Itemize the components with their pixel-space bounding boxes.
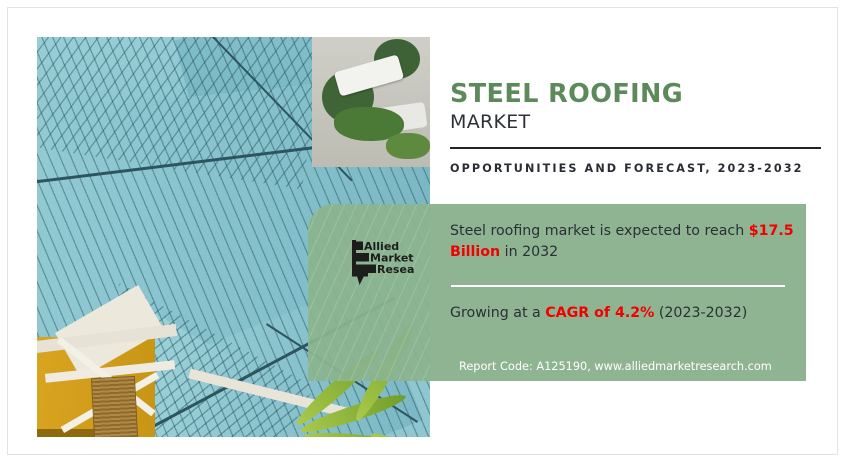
report-card: Allied Market Research STEEL ROOFING MAR… (7, 7, 838, 455)
shrub-2 (386, 133, 430, 159)
primary-stat-trail: in 2032 (505, 244, 559, 260)
secondary-stat-lead: Growing at a (450, 305, 541, 321)
report-subtitle: MARKET (450, 113, 530, 132)
primary-statistic: Steel roofing market is expected to reac… (450, 221, 795, 262)
secondary-stat-trail: (2023-2032) (659, 305, 747, 321)
secondary-stat-value: CAGR of 4.2% (545, 305, 654, 321)
stat-divider (451, 285, 785, 287)
report-title: STEEL ROOFING (450, 82, 683, 108)
window-shutter (91, 376, 139, 437)
report-code-footer: Report Code: A125190, www.alliedmarketre… (459, 360, 772, 373)
report-kicker: OPPORTUNITIES AND FORECAST, 2023-2032 (450, 160, 830, 177)
allied-market-research-logo: Allied Market Research (352, 238, 414, 290)
title-divider (450, 147, 821, 149)
svg-text:Research: Research (377, 263, 414, 276)
secondary-statistic: Growing at a CAGR of 4.2% (2023-2032) (450, 303, 760, 324)
primary-stat-lead: Steel roofing market is expected to reac… (450, 223, 744, 239)
